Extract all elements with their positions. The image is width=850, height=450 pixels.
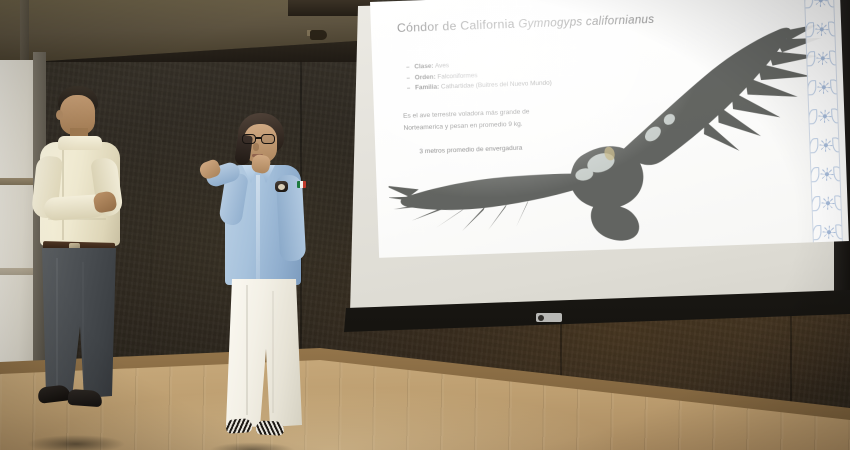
bullet-label: Orden:	[415, 73, 436, 81]
man-trouser-crease	[82, 262, 84, 382]
woman-right-shoe	[256, 420, 285, 435]
slide-bullet: Familia: Cathartidae (Buitres del Nuevo …	[407, 80, 552, 92]
presentation-room-photo: Cóndor de California Gymnogyps californi…	[0, 0, 850, 450]
woman-left-shoe	[226, 418, 253, 434]
slide-title-common: Cóndor de California	[397, 17, 515, 35]
woman-trouser-crease	[246, 285, 248, 415]
woman-nose	[253, 143, 259, 151]
presenter-standing-left	[18, 86, 130, 430]
bullet-value: Aves	[435, 62, 449, 69]
projected-slide: Cóndor de California Gymnogyps californi…	[370, 0, 849, 258]
woman-eyeglasses	[242, 134, 278, 144]
slide-bullet: Orden: Falconiformes	[407, 69, 552, 81]
screen-brand-logo	[536, 313, 562, 322]
man-collar	[58, 136, 102, 150]
bullet-value: Cathartidae (Buitres del Nuevo Mundo)	[441, 80, 552, 91]
woman-white-trousers	[226, 279, 302, 427]
man-trousers	[40, 248, 118, 398]
woman-shirt-placket	[256, 175, 260, 283]
woman-wristwatch	[275, 181, 288, 192]
presenter-speaking-right	[212, 113, 314, 443]
man-trouser-crease	[56, 258, 58, 386]
california-condor-illustration	[383, 23, 842, 253]
mexican-flag-patch-icon	[297, 181, 306, 188]
man-left-shoe	[37, 384, 71, 404]
projection-screen: Cóndor de California Gymnogyps californi…	[336, 0, 850, 344]
man-ear	[56, 110, 63, 120]
woman-trouser-crease	[272, 291, 274, 413]
wall-seam	[150, 40, 152, 360]
bullet-value: Falconiformes	[437, 72, 477, 80]
bullet-label: Familia:	[415, 84, 439, 92]
ceiling-bracket	[310, 30, 327, 40]
slide-bullet-list: Clase: Aves Orden: Falconiformes Familia…	[406, 59, 552, 96]
eyeglass-lens-right	[261, 134, 275, 144]
slide-title-scientific: Gymnogyps californianus	[518, 13, 654, 31]
bullet-label: Clase:	[414, 63, 433, 71]
